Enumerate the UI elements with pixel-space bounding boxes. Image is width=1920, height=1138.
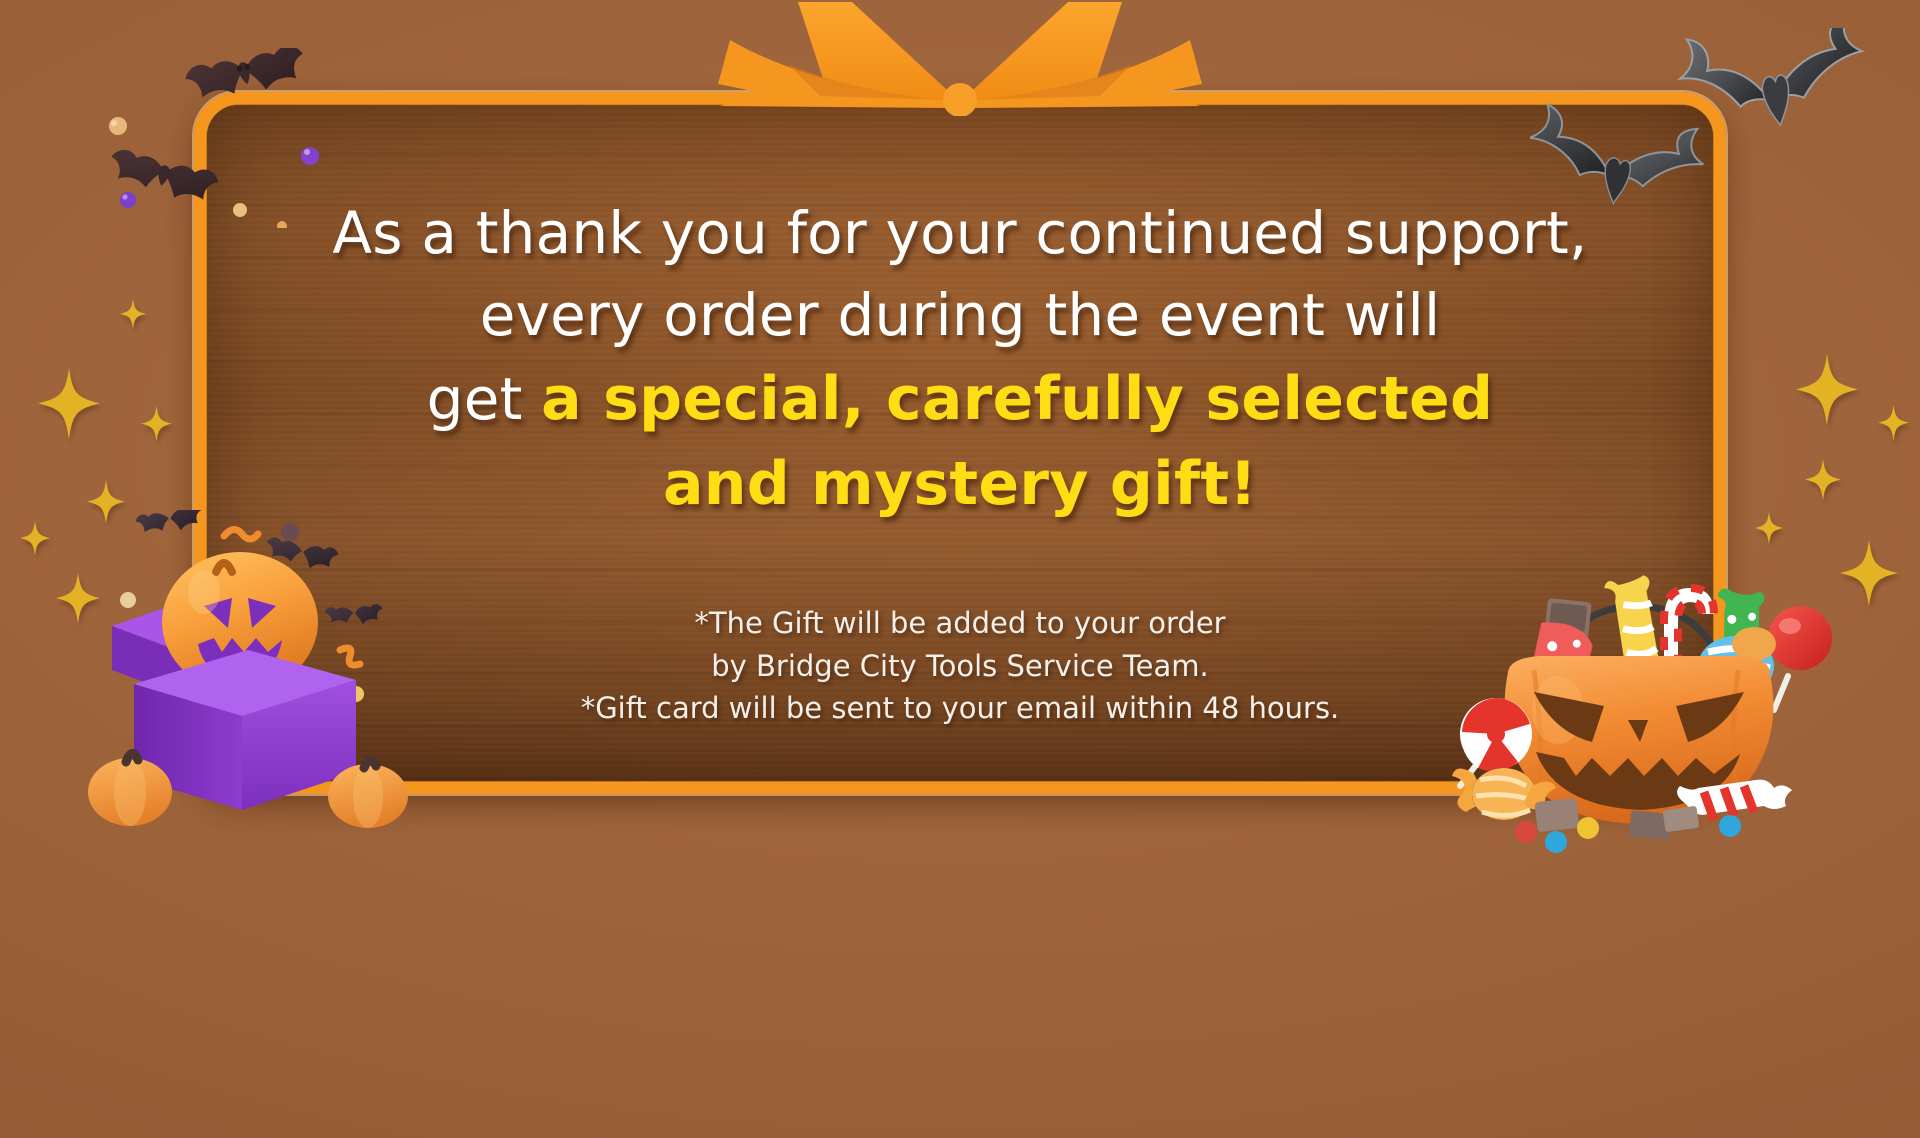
headline-line-3-prefix: get: [427, 365, 541, 433]
gift-bow-icon: [700, 0, 1220, 120]
headline-line-4: and mystery gift!: [663, 442, 1257, 527]
sparkle-star-icon: [1805, 459, 1841, 500]
headline-highlight-2: and mystery gift!: [663, 449, 1257, 519]
sparkle-star-icon: [1796, 354, 1858, 425]
headline-line-2: every order during the event will: [480, 274, 1441, 356]
sparkle-star-icon: [141, 406, 172, 442]
bat-icon: [134, 510, 204, 539]
candy-icon: [1732, 627, 1776, 661]
banner-stage: As a thank you for your continued suppor…: [0, 0, 1920, 1138]
bottom-right-decoration: [1452, 560, 1852, 860]
headline-line-3: get a special, carefully selected: [427, 357, 1494, 442]
sparkle-star-icon: [1755, 512, 1783, 544]
sparkle-star-icon: [120, 299, 146, 329]
bat-icon: [183, 48, 309, 108]
bat-icon: [1530, 100, 1709, 208]
bat-icon: [1674, 28, 1870, 138]
headline-highlight-1: a special, carefully selected: [541, 364, 1493, 434]
bottom-left-decoration: [72, 510, 432, 830]
top-right-decoration: [1530, 28, 1890, 208]
top-left-decoration: [92, 48, 372, 228]
lollipop-icon: [1768, 606, 1832, 710]
sparkle-star-icon: [1878, 405, 1909, 441]
headline-line-1: As a thank you for your continued suppor…: [332, 192, 1587, 274]
sparkle-star-icon: [20, 521, 50, 556]
bat-icon: [324, 602, 383, 628]
sparkle-star-icon: [38, 368, 100, 439]
